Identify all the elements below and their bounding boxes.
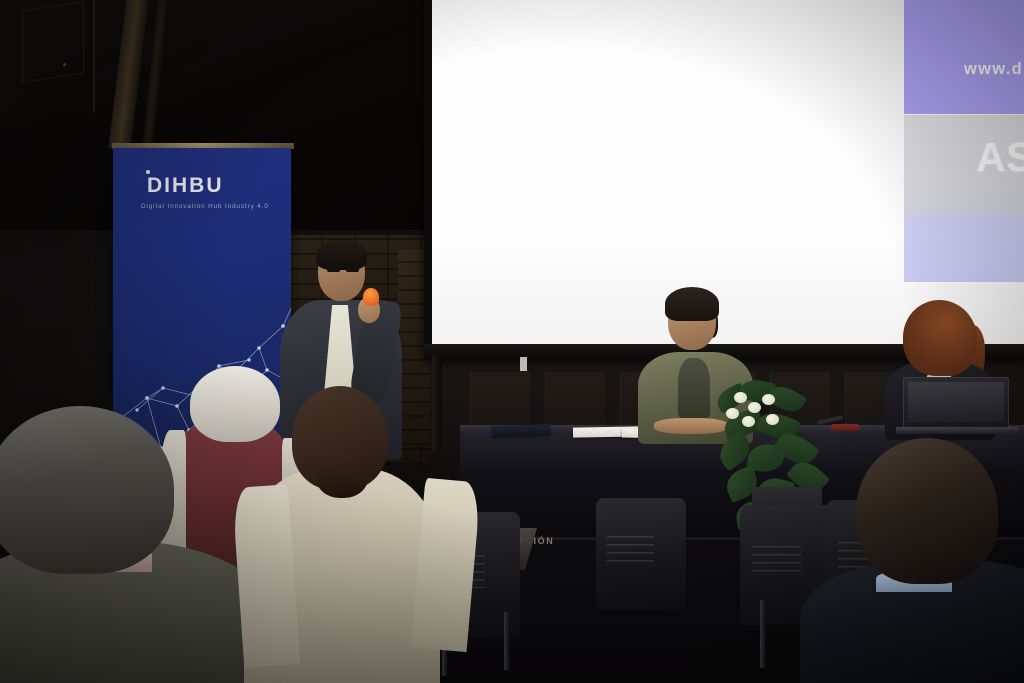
microphone-icon	[363, 288, 379, 306]
audience-5-head	[856, 438, 998, 584]
presentation-slide: www.dihbu40.es ASAMBLEA EXTRAOR 2023 Bur…	[904, 0, 1024, 282]
slide-title: ASAMBLEA EXTRAOR	[976, 134, 1024, 181]
light-speck	[63, 63, 66, 66]
panelist-left-inner-layer	[678, 358, 710, 418]
panelist-left-hair	[665, 287, 719, 321]
plant-flower	[742, 416, 755, 427]
folder-object	[492, 424, 550, 437]
banner-tagline: Digital Innovation Hub Industry 4.0	[141, 203, 269, 210]
table-microphone	[830, 424, 860, 431]
chair-leg	[760, 600, 765, 668]
plant-flower	[726, 408, 739, 419]
plant-flower	[762, 394, 775, 405]
panelist-right-hair	[903, 300, 977, 376]
projection-screen-post	[432, 355, 442, 450]
audience-3-head	[190, 366, 280, 442]
chair-leg	[504, 612, 509, 670]
laptop-display	[908, 382, 1004, 422]
laptop-base	[896, 427, 1018, 434]
plant-flower	[766, 414, 779, 425]
banner-logo-dot	[146, 170, 150, 174]
glasses-icon	[327, 264, 359, 272]
ceiling-duct-frame	[22, 1, 84, 83]
audience-1-head	[0, 406, 174, 574]
plant-flower	[734, 392, 747, 403]
chair	[596, 498, 686, 610]
plant-flower	[748, 402, 761, 413]
banner-logo-text: DIHBU	[147, 174, 224, 198]
slide-purple-band: www.dihbu40.es	[904, 0, 1024, 114]
slide-url: www.dihbu40.es	[964, 60, 1024, 79]
conference-photo-scene: www.dihbu40.es ASAMBLEA EXTRAOR 2023 Bur…	[0, 0, 1024, 683]
audience-4-bun	[316, 454, 368, 498]
projection-screen-latch	[520, 357, 527, 371]
laptop-screen-object	[903, 377, 1009, 429]
projection-screen-surface: www.dihbu40.es ASAMBLEA EXTRAOR 2023 Bur…	[432, 0, 1024, 344]
slide-lavender-band	[904, 215, 1024, 282]
